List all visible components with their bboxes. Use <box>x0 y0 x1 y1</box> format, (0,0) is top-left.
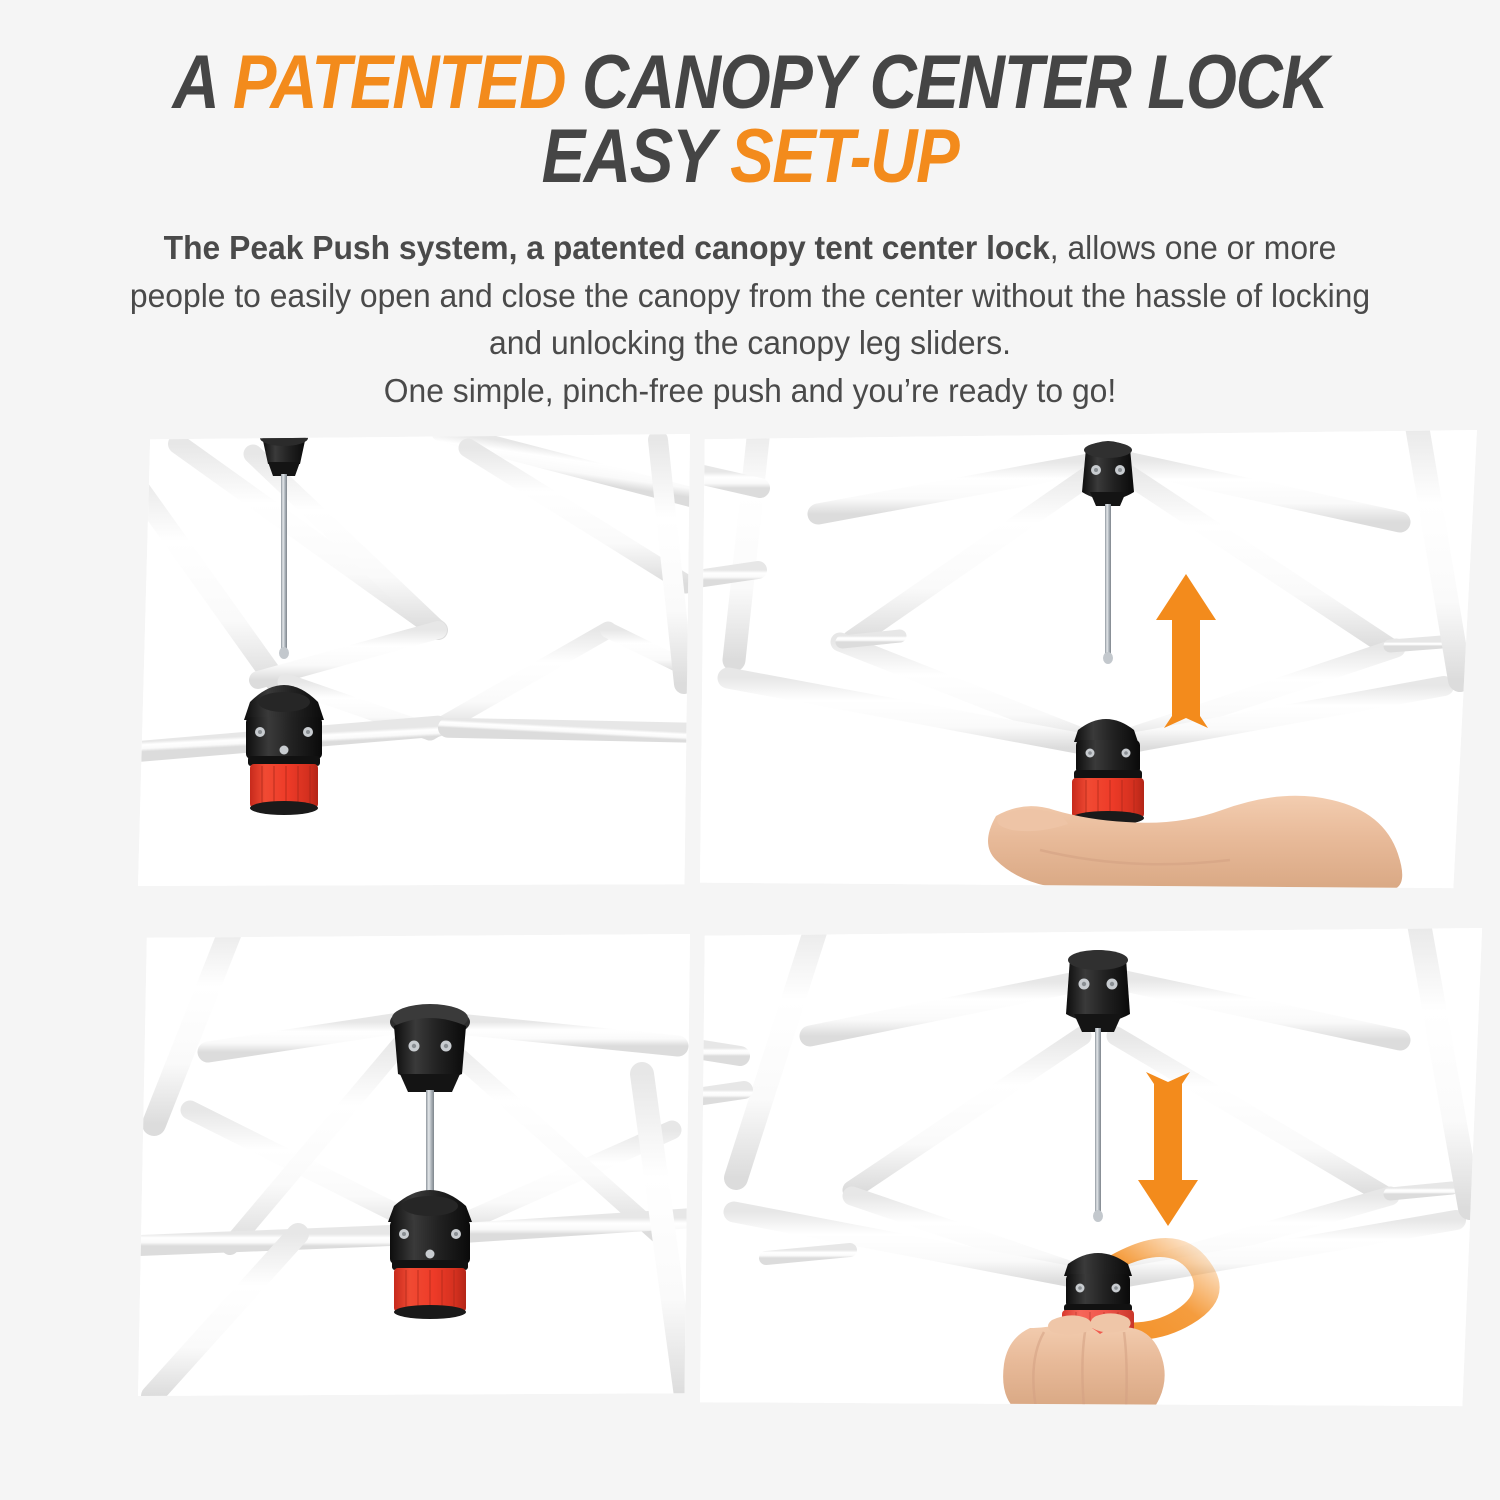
panel-4-twist-down <box>700 928 1490 1408</box>
push-rod <box>426 1090 434 1200</box>
center-lock-hub <box>388 1190 472 1319</box>
center-lock-hub <box>244 685 324 815</box>
headline-accent-setup: SET-UP <box>730 114 958 199</box>
push-rod <box>1105 504 1111 656</box>
panel-2-illustration <box>700 430 1488 890</box>
photo-panel-grid <box>0 428 1500 1438</box>
panel-3-illustration <box>138 934 690 1396</box>
panel-1-illustration <box>138 434 690 886</box>
description-bold-lead: The Peak Push system, a patented canopy … <box>164 230 1050 267</box>
headline-accent-patented: PATENTED <box>233 40 565 125</box>
headline-text-c: EASY <box>542 114 731 199</box>
panel-2-push-up <box>700 430 1488 890</box>
headline-line-1: A PATENTED CANOPY CENTER LOCK <box>105 46 1395 120</box>
headline-block: A PATENTED CANOPY CENTER LOCK EASY SET-U… <box>0 0 1500 195</box>
headline-line-2: EASY SET-UP <box>105 120 1395 194</box>
panel-3-locked <box>138 934 690 1396</box>
headline-text-b: CANOPY CENTER LOCK <box>565 40 1327 125</box>
center-lock-hub <box>1072 719 1144 825</box>
headline-text-a: A <box>173 40 233 125</box>
push-rod <box>281 474 287 652</box>
panel-1-frame-at-rest <box>138 434 690 886</box>
push-rod <box>1095 1028 1101 1214</box>
description-last-line: One simple, pinch-free push and you’re r… <box>384 373 1116 410</box>
description-paragraph: The Peak Push system, a patented canopy … <box>128 225 1373 415</box>
panel-4-illustration <box>700 928 1490 1408</box>
